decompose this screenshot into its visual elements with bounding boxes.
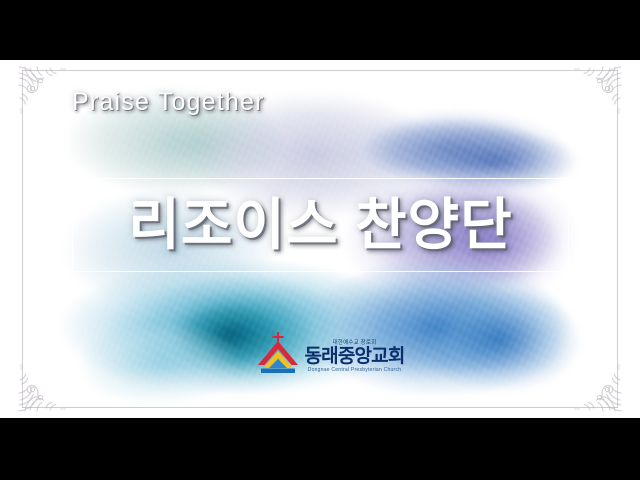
letterbox-top [0,0,640,60]
church-english-name-text: Dongnae Central Presbyterian Church [303,368,406,373]
slide-eyebrow-text: Praise Together [72,88,265,117]
slide-content: Praise Together 리조이스 찬양단 [0,60,640,418]
church-logo: 대한예수교 장로회 동래중앙교회 Dongnae Central Presbyt… [256,322,406,374]
church-logo-text: 대한예수교 장로회 동래중앙교회 Dongnae Central Presbyt… [303,327,406,374]
watercolor-wash-lower-light [60,310,260,418]
letterbox-bottom [0,418,640,480]
corner-ornament-top-left-icon [16,64,68,116]
church-name-text: 동래중앙교회 [303,347,406,366]
watercolor-wash-lower-royal-2 [400,275,600,405]
corner-ornament-bottom-left-icon [16,362,68,414]
video-frame: Praise Together 리조이스 찬양단 [0,0,640,480]
slide-title: 리조이스 찬양단 [128,197,512,253]
title-frame: 리조이스 찬양단 [72,178,569,272]
corner-ornament-top-right-icon [572,64,624,116]
church-logo-mark-icon [256,332,300,374]
corner-ornament-bottom-right-icon [572,362,624,414]
